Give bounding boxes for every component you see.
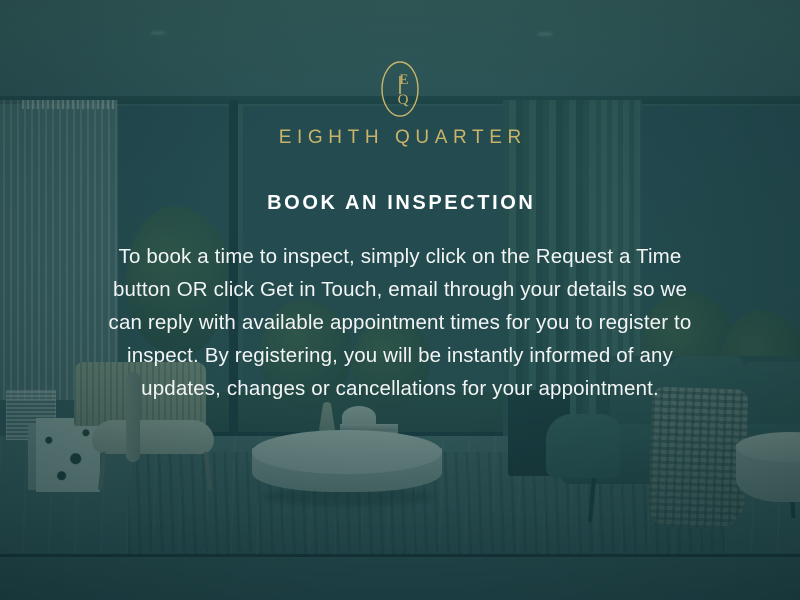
brand-wordmark: EIGHTH QUARTER — [273, 128, 527, 147]
page-body-text: To book a time to inspect, simply click … — [100, 240, 700, 405]
eq-monogram-icon: E Q — [380, 60, 420, 118]
book-an-inspection-page: E Q EIGHTH QUARTER BOOK AN INSPECTION To… — [0, 0, 800, 600]
svg-text:Q: Q — [398, 92, 409, 108]
page-title: BOOK AN INSPECTION — [265, 193, 536, 213]
svg-text:E: E — [399, 72, 408, 88]
content-column: E Q EIGHTH QUARTER BOOK AN INSPECTION To… — [0, 0, 800, 600]
